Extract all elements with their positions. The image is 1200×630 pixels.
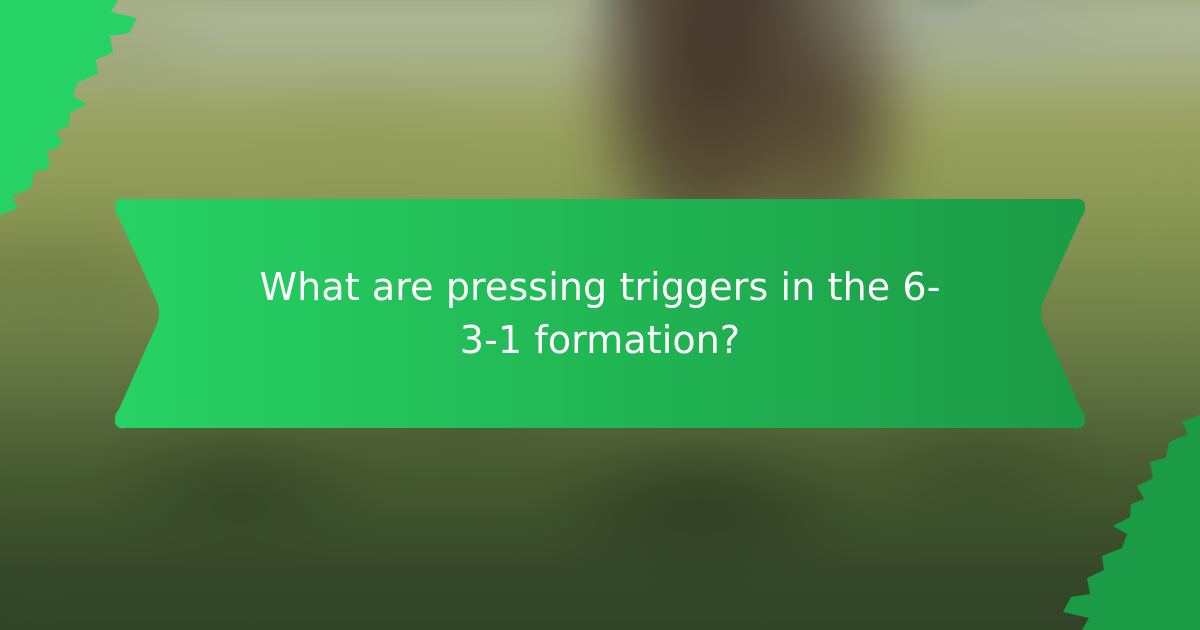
ribbon-text-area: What are pressing triggers in the 6-3-1 … — [107, 197, 1093, 430]
title-ribbon: What are pressing triggers in the 6-3-1 … — [107, 197, 1093, 430]
card-title: What are pressing triggers in the 6-3-1 … — [250, 261, 950, 367]
social-share-card: What are pressing triggers in the 6-3-1 … — [0, 0, 1200, 630]
